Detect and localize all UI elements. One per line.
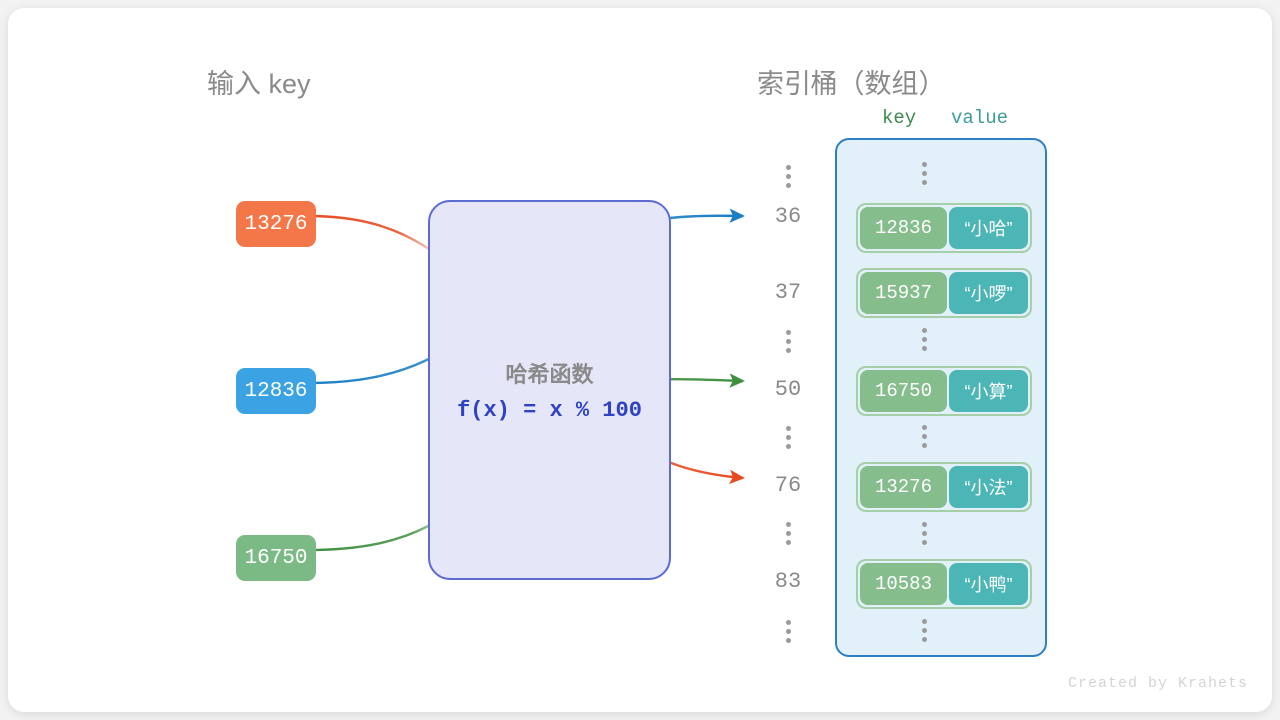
bucket-entry-10583[interactable]: 10583 “小鸭”	[856, 559, 1032, 609]
bucket-entry-key: 12836	[860, 207, 947, 249]
bucket-entry-value: “小法”	[949, 466, 1028, 508]
index-ellipsis-1	[785, 330, 791, 353]
index-ellipsis-2	[785, 426, 791, 449]
index-label-50: 50	[766, 377, 810, 402]
bucket-ellipsis-0	[921, 162, 927, 185]
hash-function-box: 哈希函数 f(x) = x % 100	[428, 200, 671, 580]
bucket-entry-13276[interactable]: 13276 “小法”	[856, 462, 1032, 512]
bucket-entry-16750[interactable]: 16750 “小算”	[856, 366, 1032, 416]
bucket-ellipsis-4	[921, 619, 927, 642]
bucket-entry-value: “小啰”	[949, 272, 1028, 314]
bucket-entry-value: “小哈”	[949, 207, 1028, 249]
index-label-83: 83	[766, 569, 810, 594]
heading-key: key	[882, 107, 916, 129]
bucket-entry-15937[interactable]: 15937 “小啰”	[856, 268, 1032, 318]
diagram-canvas: 输入 key 索引 桶（数组） key value	[8, 8, 1272, 712]
bucket-ellipsis-3	[921, 522, 927, 545]
index-label-36: 36	[766, 204, 810, 229]
index-ellipsis-3	[785, 522, 791, 545]
bucket-ellipsis-2	[921, 425, 927, 448]
index-label-37: 37	[766, 280, 810, 305]
bucket-entry-key: 13276	[860, 466, 947, 508]
heading-bucket: 桶（数组）	[811, 62, 946, 101]
heading-value: value	[951, 107, 1008, 129]
input-key-chip-12836[interactable]: 12836	[236, 368, 316, 414]
index-ellipsis-4	[785, 620, 791, 643]
index-ellipsis-0	[785, 165, 791, 188]
heading-index: 索引	[757, 62, 811, 101]
bucket-ellipsis-1	[921, 328, 927, 351]
hash-function-formula: f(x) = x % 100	[430, 398, 669, 423]
bucket-entry-key: 16750	[860, 370, 947, 412]
watermark-credit: Created by Krahets	[1068, 675, 1248, 692]
input-key-chip-13276[interactable]: 13276	[236, 201, 316, 247]
input-key-chip-16750[interactable]: 16750	[236, 535, 316, 581]
bucket-array: 12836 “小哈” 15937 “小啰” 16750 “小算” 13276 “…	[835, 138, 1047, 657]
bucket-entry-key: 15937	[860, 272, 947, 314]
hash-function-title: 哈希函数	[430, 357, 669, 389]
index-label-76: 76	[766, 473, 810, 498]
heading-input-key: 输入 key	[207, 62, 311, 101]
bucket-entry-key: 10583	[860, 563, 947, 605]
bucket-entry-12836[interactable]: 12836 “小哈”	[856, 203, 1032, 253]
bucket-entry-value: “小鸭”	[949, 563, 1028, 605]
bucket-entry-value: “小算”	[949, 370, 1028, 412]
